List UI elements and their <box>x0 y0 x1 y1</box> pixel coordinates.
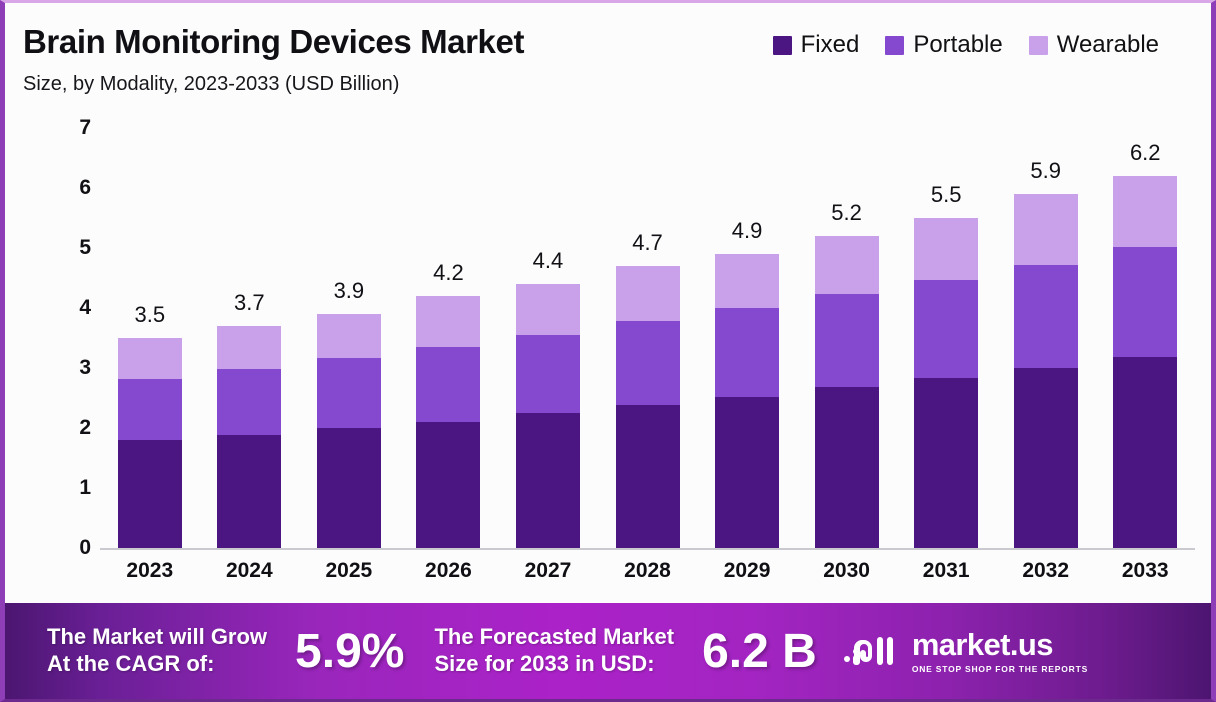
page-subtitle: Size, by Modality, 2023-2033 (USD Billio… <box>23 73 399 96</box>
brand-tagline: ONE STOP SHOP FOR THE REPORTS <box>912 664 1088 674</box>
y-axis-tick-label: 1 <box>57 476 91 500</box>
x-axis-label-2030: 2030 <box>797 559 897 583</box>
bar-segment-fixed[interactable] <box>1014 368 1078 548</box>
bar-total-label: 4.2 <box>399 260 499 286</box>
bar-segment-portable[interactable] <box>516 335 580 413</box>
brand-logo[interactable]: market.us ONE STOP SHOP FOR THE REPORTS <box>843 629 1088 674</box>
bar-segment-wearable[interactable] <box>715 254 779 308</box>
legend-swatch-wearable-icon <box>1029 36 1048 55</box>
bar-segment-wearable[interactable] <box>118 338 182 379</box>
bar-stack <box>118 338 182 548</box>
bar-segment-wearable[interactable] <box>217 326 281 369</box>
bar-stack <box>616 266 680 548</box>
bar-segment-wearable[interactable] <box>815 236 879 294</box>
bar-stack <box>815 236 879 548</box>
y-axis-tick-label: 4 <box>57 296 91 320</box>
bar-total-label: 3.9 <box>299 278 399 304</box>
bar-group-2024[interactable]: 3.7 <box>200 107 300 548</box>
y-axis-tick-label: 5 <box>57 236 91 260</box>
x-axis-labels: 2023202420252026202720282029203020312032… <box>100 559 1195 583</box>
legend-swatch-portable-icon <box>885 36 904 55</box>
bar-segment-fixed[interactable] <box>516 413 580 548</box>
bar-stack <box>914 218 978 548</box>
x-axis-label-2031: 2031 <box>896 559 996 583</box>
brand-name: market.us <box>912 629 1088 660</box>
y-axis-tick-label: 6 <box>57 176 91 200</box>
infographic-root: Brain Monitoring Devices Market Size, by… <box>0 0 1216 702</box>
chart-header: Brain Monitoring Devices Market Size, by… <box>5 3 1211 107</box>
bar-segment-portable[interactable] <box>914 280 978 378</box>
bar-stack <box>715 254 779 548</box>
bar-stack <box>1014 194 1078 548</box>
bar-segment-portable[interactable] <box>416 347 480 422</box>
bar-total-label: 5.9 <box>996 158 1096 184</box>
bar-total-label: 5.2 <box>797 200 897 226</box>
bar-group-2028[interactable]: 4.7 <box>598 107 698 548</box>
market-us-logo-icon <box>843 629 901 674</box>
bar-segment-fixed[interactable] <box>616 405 680 548</box>
bar-group-2025[interactable]: 3.9 <box>299 107 399 548</box>
bar-segment-fixed[interactable] <box>317 428 381 548</box>
footer-banner: The Market will GrowAt the CAGR of: 5.9%… <box>5 603 1211 699</box>
y-axis-tick-label: 7 <box>57 116 91 140</box>
legend-swatch-fixed-icon <box>773 36 792 55</box>
y-axis: 01234567 <box>35 107 91 603</box>
bar-total-label: 6.2 <box>1095 140 1195 166</box>
bar-segment-portable[interactable] <box>815 294 879 387</box>
bar-segment-portable[interactable] <box>1113 247 1177 357</box>
legend-label: Fixed <box>801 31 860 59</box>
cagr-caption: The Market will GrowAt the CAGR of: <box>47 624 267 678</box>
bar-segment-fixed[interactable] <box>118 440 182 548</box>
x-axis-label-2026: 2026 <box>399 559 499 583</box>
x-axis-label-2033: 2033 <box>1095 559 1195 583</box>
x-axis-label-2025: 2025 <box>299 559 399 583</box>
page-title: Brain Monitoring Devices Market <box>23 23 524 61</box>
legend-item-wearable[interactable]: Wearable <box>1029 31 1159 59</box>
legend-item-fixed[interactable]: Fixed <box>773 31 860 59</box>
bar-segment-wearable[interactable] <box>1113 176 1177 247</box>
x-axis-label-2032: 2032 <box>996 559 1096 583</box>
bar-group-2023[interactable]: 3.5 <box>100 107 200 548</box>
bar-total-label: 4.7 <box>598 230 698 256</box>
bar-segment-fixed[interactable] <box>715 397 779 548</box>
bar-total-label: 3.5 <box>100 302 200 328</box>
bar-group-2033[interactable]: 6.2 <box>1095 107 1195 548</box>
bar-group-2032[interactable]: 5.9 <box>996 107 1096 548</box>
bar-segment-portable[interactable] <box>715 308 779 397</box>
y-axis-tick-label: 2 <box>57 416 91 440</box>
bar-series-container: 3.53.73.94.24.44.74.95.25.55.96.2 <box>100 107 1195 548</box>
y-axis-tick-label: 0 <box>57 536 91 560</box>
bar-total-label: 3.7 <box>200 290 300 316</box>
bar-segment-fixed[interactable] <box>217 435 281 548</box>
bar-segment-wearable[interactable] <box>317 314 381 358</box>
bar-stack <box>416 296 480 548</box>
legend-label: Portable <box>913 31 1002 59</box>
bar-total-label: 4.4 <box>498 248 598 274</box>
x-axis-label-2028: 2028 <box>598 559 698 583</box>
bar-segment-portable[interactable] <box>1014 265 1078 368</box>
x-axis-line <box>100 548 1195 550</box>
y-axis-tick-label: 3 <box>57 356 91 380</box>
legend-item-portable[interactable]: Portable <box>885 31 1002 59</box>
bar-segment-wearable[interactable] <box>616 266 680 321</box>
plot-area: 01234567 3.53.73.94.24.44.74.95.25.55.96… <box>5 107 1216 603</box>
bar-segment-fixed[interactable] <box>416 422 480 548</box>
forecast-caption: The Forecasted MarketSize for 2033 in US… <box>434 624 674 678</box>
bar-segment-fixed[interactable] <box>815 387 879 548</box>
bar-segment-portable[interactable] <box>616 321 680 405</box>
bar-stack <box>516 284 580 548</box>
bar-group-2026[interactable]: 4.2 <box>399 107 499 548</box>
bar-segment-wearable[interactable] <box>416 296 480 347</box>
x-axis-label-2023: 2023 <box>100 559 200 583</box>
forecast-value: 6.2 B <box>702 624 817 679</box>
x-axis-label-2027: 2027 <box>498 559 598 583</box>
x-axis-label-2029: 2029 <box>697 559 797 583</box>
bar-group-2029[interactable]: 4.9 <box>697 107 797 548</box>
bar-group-2030[interactable]: 5.2 <box>797 107 897 548</box>
cagr-value: 5.9% <box>295 624 404 679</box>
bar-segment-portable[interactable] <box>317 358 381 428</box>
brand-text: market.us ONE STOP SHOP FOR THE REPORTS <box>912 629 1088 674</box>
chart-legend: FixedPortableWearable <box>773 31 1159 59</box>
bar-total-label: 4.9 <box>697 218 797 244</box>
x-axis-label-2024: 2024 <box>200 559 300 583</box>
bar-group-2027[interactable]: 4.4 <box>498 107 598 548</box>
bar-total-label: 5.5 <box>896 182 996 208</box>
bar-segment-portable[interactable] <box>118 379 182 440</box>
bar-segment-wearable[interactable] <box>914 218 978 280</box>
bar-stack <box>217 326 281 548</box>
bar-segment-wearable[interactable] <box>1014 194 1078 265</box>
bar-segment-fixed[interactable] <box>1113 357 1177 548</box>
bar-stack <box>317 314 381 548</box>
bar-segment-fixed[interactable] <box>914 378 978 548</box>
bar-segment-wearable[interactable] <box>516 284 580 335</box>
bar-group-2031[interactable]: 5.5 <box>896 107 996 548</box>
legend-label: Wearable <box>1057 31 1159 59</box>
bar-stack <box>1113 176 1177 548</box>
bar-segment-portable[interactable] <box>217 369 281 435</box>
